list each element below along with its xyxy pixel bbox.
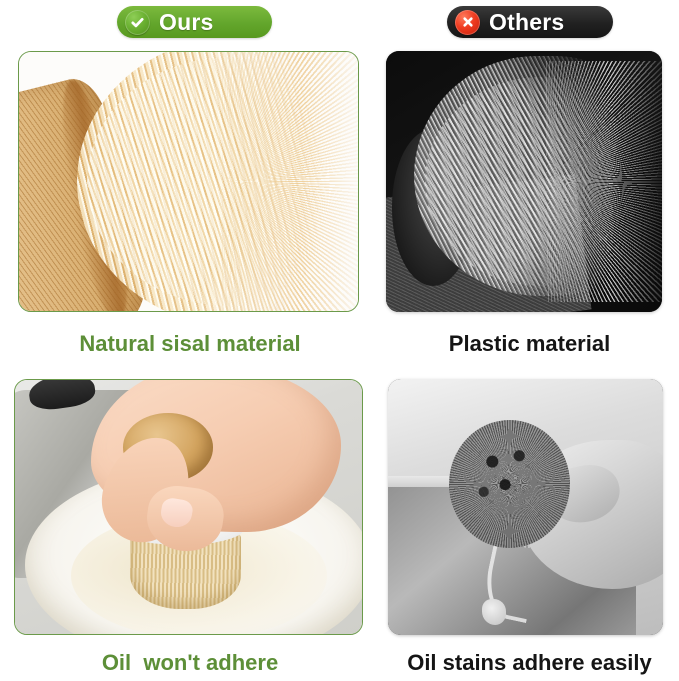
check-circle-icon <box>125 10 150 35</box>
sisal-bristle-tips <box>222 52 359 311</box>
cord-knot-shape <box>482 599 507 625</box>
panel-others-oil-test <box>388 379 663 635</box>
badge-others-label: Others <box>489 11 564 34</box>
comparison-badge-row: Ours Others <box>0 0 679 44</box>
photo-dirty-plastic-brush <box>388 379 663 635</box>
photo-natural-sisal-bristles <box>19 52 358 311</box>
oil-stain-spots-shape <box>471 440 543 512</box>
caption-plastic-material: Plastic material <box>380 333 679 355</box>
photo-plastic-bristles <box>386 51 662 312</box>
badge-others: Others <box>447 6 613 38</box>
caption-oil-wont-adhere: Oil won't adhere <box>0 652 380 674</box>
panel-ours-material <box>18 51 359 312</box>
caption-oil-stains-adhere-easily: Oil stains adhere easily <box>380 652 679 674</box>
cross-circle-icon <box>455 10 480 35</box>
panel-ours-oil-test: SU <box>14 379 363 635</box>
photo-bamboo-brush-on-plate: SU <box>15 380 362 634</box>
badge-ours-label: Ours <box>159 11 213 34</box>
caption-natural-sisal-material: Natural sisal material <box>0 333 380 355</box>
badge-ours: Ours <box>117 6 272 38</box>
plastic-bristle-tips <box>546 61 662 301</box>
panel-others-material <box>386 51 662 312</box>
